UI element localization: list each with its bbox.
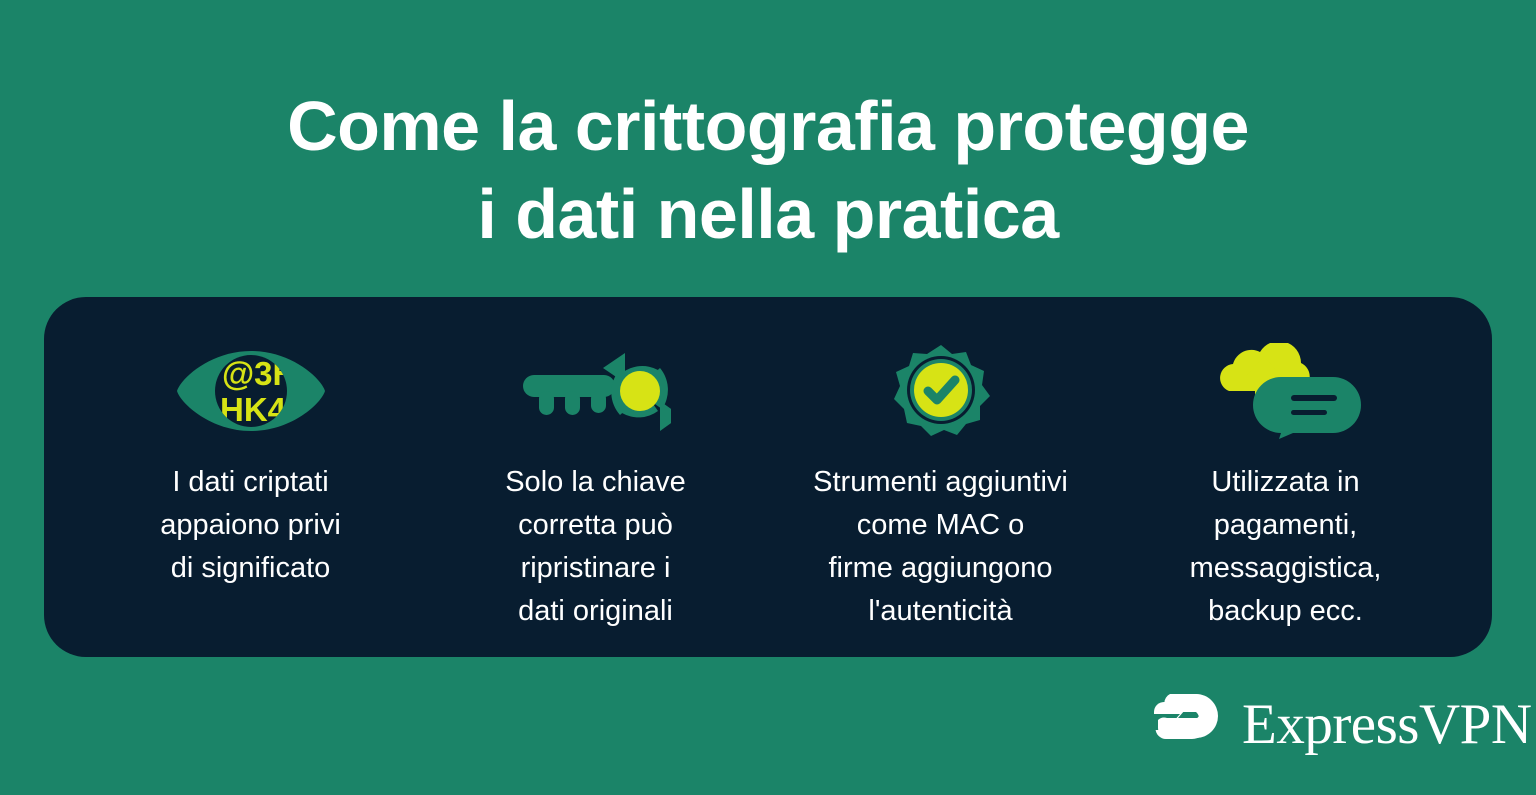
expressvpn-wordmark: ExpressVPN [1242, 696, 1532, 753]
feature-item-correct-key: Solo la chiave corretta può ripristinare… [423, 343, 768, 633]
cloud-upload-chat-icon [1211, 343, 1361, 439]
scrambled-eye-icon: @3H HK4' [176, 343, 326, 439]
page-title: Come la crittografia protegge i dati nel… [0, 82, 1536, 258]
feature-item-encrypted-data: @3H HK4' I dati criptati appaiono privi … [78, 343, 423, 590]
verified-badge-check-icon [891, 343, 991, 439]
expressvpn-e-mark-icon [1152, 692, 1224, 757]
features-card: @3H HK4' I dati criptati appaiono privi … [44, 297, 1492, 657]
feature-item-authenticity: Strumenti aggiuntivi come MAC o firme ag… [768, 343, 1113, 633]
page-title-line-2: i dati nella pratica [0, 170, 1536, 258]
feature-item-use-cases: Utilizzata in pagamenti, messaggistica, … [1113, 343, 1458, 633]
feature-caption: Utilizzata in pagamenti, messaggistica, … [1184, 461, 1388, 633]
feature-caption: Solo la chiave corretta può ripristinare… [499, 461, 692, 633]
feature-caption: Strumenti aggiuntivi come MAC o firme ag… [807, 461, 1074, 633]
key-refresh-icon [521, 343, 671, 439]
page-title-line-1: Come la crittografia protegge [0, 82, 1536, 170]
feature-caption: I dati criptati appaiono privi di signif… [154, 461, 347, 590]
expressvpn-logo: ExpressVPN [1152, 692, 1532, 757]
